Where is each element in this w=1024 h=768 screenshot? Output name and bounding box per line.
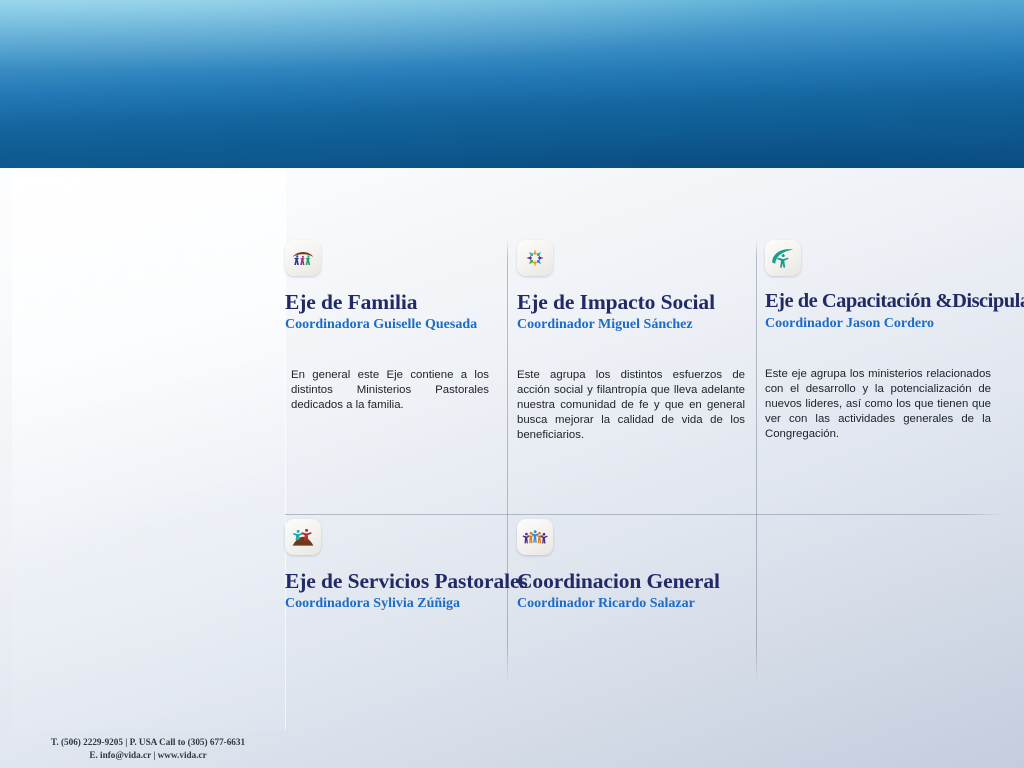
colorful-people-starburst-icon <box>517 240 553 276</box>
section-subtitle: Coordinador Ricardo Salazar <box>517 596 757 613</box>
section-card-impacto-social[interactable]: Eje de Impacto Social Coordinador Miguel… <box>517 240 757 443</box>
section-title: Coordinacion General <box>517 569 757 593</box>
header-gradient-band <box>0 0 1024 168</box>
grid-horizontal-divider <box>285 514 1004 515</box>
two-people-on-hill-icon <box>285 519 321 555</box>
person-growth-swoosh-icon <box>765 240 801 276</box>
footer-contact-block: T. (506) 2229-9205 | P. USA Call to (305… <box>0 736 296 762</box>
section-title: Eje de Capacitación &Discipulado <box>765 290 1007 313</box>
section-title: Eje de Impacto Social <box>517 290 757 314</box>
section-title: Eje de Familia <box>285 290 507 314</box>
slide-page: Eje de Familia Coordinadora Guiselle Que… <box>0 0 1024 768</box>
section-card-familia[interactable]: Eje de Familia Coordinadora Guiselle Que… <box>285 240 507 413</box>
left-light-panel <box>12 170 286 730</box>
section-card-servicios-pastorales[interactable]: Eje de Servicios Pastorales Coordinadora… <box>285 519 507 613</box>
footer-email-line: E. info@vida.cr | www.vida.cr <box>0 749 296 762</box>
section-body: Este agrupa los distintos esfuerzos de a… <box>517 368 745 443</box>
section-title: Eje de Servicios Pastorales <box>285 569 507 593</box>
section-subtitle: Coordinador Miguel Sánchez <box>517 317 757 334</box>
section-body: En general este Eje contiene a los disti… <box>291 368 489 413</box>
grid-vertical-divider-1 <box>507 240 508 682</box>
section-subtitle: Coordinadora Sylivia Zúñiga <box>285 596 507 613</box>
section-subtitle: Coordinadora Guiselle Quesada <box>285 317 507 334</box>
section-card-capacitacion[interactable]: Eje de Capacitación &Discipulado Coordin… <box>765 240 1007 442</box>
footer-phone-line: T. (506) 2229-9205 | P. USA Call to (305… <box>0 736 296 749</box>
section-body: Este eje agrupa los ministerios relacion… <box>765 367 991 442</box>
sections-grid: Eje de Familia Coordinadora Guiselle Que… <box>285 240 1007 685</box>
group-of-people-icon <box>517 519 553 555</box>
family-house-people-icon <box>285 240 321 276</box>
section-subtitle: Coordinador Jason Cordero <box>765 316 1007 333</box>
header-sheen-overlay <box>0 0 1024 168</box>
section-card-coordinacion-general[interactable]: Coordinacion General Coordinador Ricardo… <box>517 519 757 613</box>
